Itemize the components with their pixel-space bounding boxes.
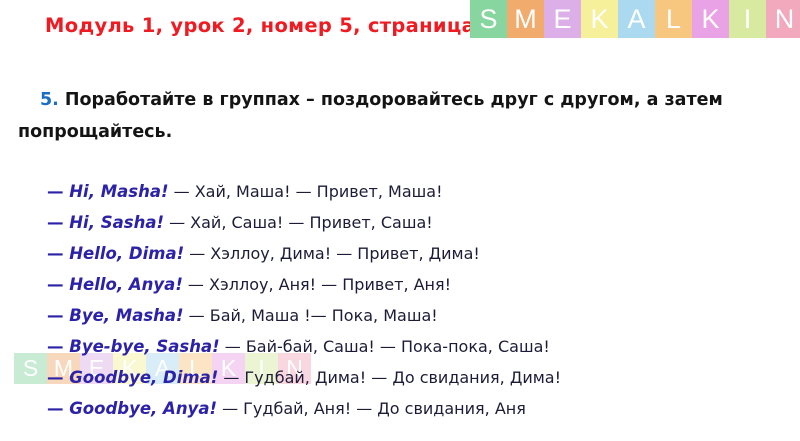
watermark-letter-tile: L (655, 0, 692, 38)
dialogue-dash: — (47, 399, 69, 418)
dialogue-english-phrase: Hi, Sasha! (69, 213, 164, 232)
watermark-letter-tile: M (507, 0, 544, 38)
watermark-letter-tile: N (766, 0, 800, 38)
dialogue-russian-translation: — Бай, Маша !— Пока, Маша! (184, 306, 438, 325)
dialogue-english-phrase: Hello, Anya! (69, 275, 183, 294)
task-statement: 5.Поработайте в группах – поздоровайтесь… (18, 84, 763, 148)
dialogue-line: — Hello, Anya! — Хэллоу, Аня! — Привет, … (47, 269, 561, 300)
dialogue-line: — Hi, Masha! — Хай, Маша! — Привет, Маша… (47, 176, 561, 207)
dialogue-english-phrase: Hello, Dima! (69, 244, 184, 263)
dialogue-list: — Hi, Masha! — Хай, Маша! — Привет, Маша… (47, 176, 561, 424)
dialogue-russian-translation: — Бай-бай, Саша! — Пока-пока, Саша! (220, 337, 550, 356)
dialogue-dash: — (47, 337, 69, 356)
watermark-letter-tile: K (692, 0, 729, 38)
task-text: Поработайте в группах – поздоровайтесь д… (18, 90, 723, 142)
dialogue-dash: — (47, 182, 69, 201)
dialogue-dash: — (47, 275, 69, 294)
dialogue-dash: — (47, 368, 69, 387)
watermark-letter-tile: S (14, 353, 47, 384)
worksheet-page: SMEKALKIN Модуль 1, урок 2, номер 5, стр… (0, 0, 800, 441)
watermark-smekalkin-top: SMEKALKIN (470, 0, 800, 38)
dialogue-line: — Hi, Sasha! — Хай, Саша! — Привет, Саша… (47, 207, 561, 238)
dialogue-dash: — (47, 213, 69, 232)
dialogue-line: — Hello, Dima! — Хэллоу, Дима! — Привет,… (47, 238, 561, 269)
watermark-letter-tile: K (581, 0, 618, 38)
dialogue-english-phrase: Hi, Masha! (69, 182, 168, 201)
watermark-letter-tile: E (544, 0, 581, 38)
dialogue-dash: — (47, 244, 69, 263)
task-number: 5. (40, 90, 59, 110)
dialogue-russian-translation: — Гудбай, Аня! — До свидания, Аня (217, 399, 526, 418)
watermark-letter-tile: I (729, 0, 766, 38)
dialogue-line: — Bye-bye, Sasha! — Бай-бай, Саша! — Пок… (47, 331, 561, 362)
dialogue-russian-translation: — Хэллоу, Аня! — Привет, Аня! (183, 275, 451, 294)
dialogue-english-phrase: Goodbye, Dima! (69, 368, 218, 387)
dialogue-russian-translation: — Хай, Маша! — Привет, Маша! (169, 182, 443, 201)
watermark-letter-tile: A (618, 0, 655, 38)
dialogue-russian-translation: — Хэллоу, Дима! — Привет, Дима! (184, 244, 480, 263)
dialogue-english-phrase: Bye-bye, Sasha! (69, 337, 219, 356)
dialogue-russian-translation: — Хай, Саша! — Привет, Саша! (164, 213, 433, 232)
dialogue-english-phrase: Bye, Masha! (69, 306, 183, 325)
dialogue-line: — Goodbye, Anya! — Гудбай, Аня! — До сви… (47, 393, 561, 424)
dialogue-russian-translation: — Гудбай, Дима! — До свидания, Дима! (218, 368, 561, 387)
dialogue-line: — Goodbye, Dima! — Гудбай, Дима! — До св… (47, 362, 561, 393)
dialogue-line: — Bye, Masha! — Бай, Маша !— Пока, Маша! (47, 300, 561, 331)
dialogue-dash: — (47, 306, 69, 325)
dialogue-english-phrase: Goodbye, Anya! (69, 399, 217, 418)
page-title: Модуль 1, урок 2, номер 5, страница 9 (45, 14, 496, 37)
